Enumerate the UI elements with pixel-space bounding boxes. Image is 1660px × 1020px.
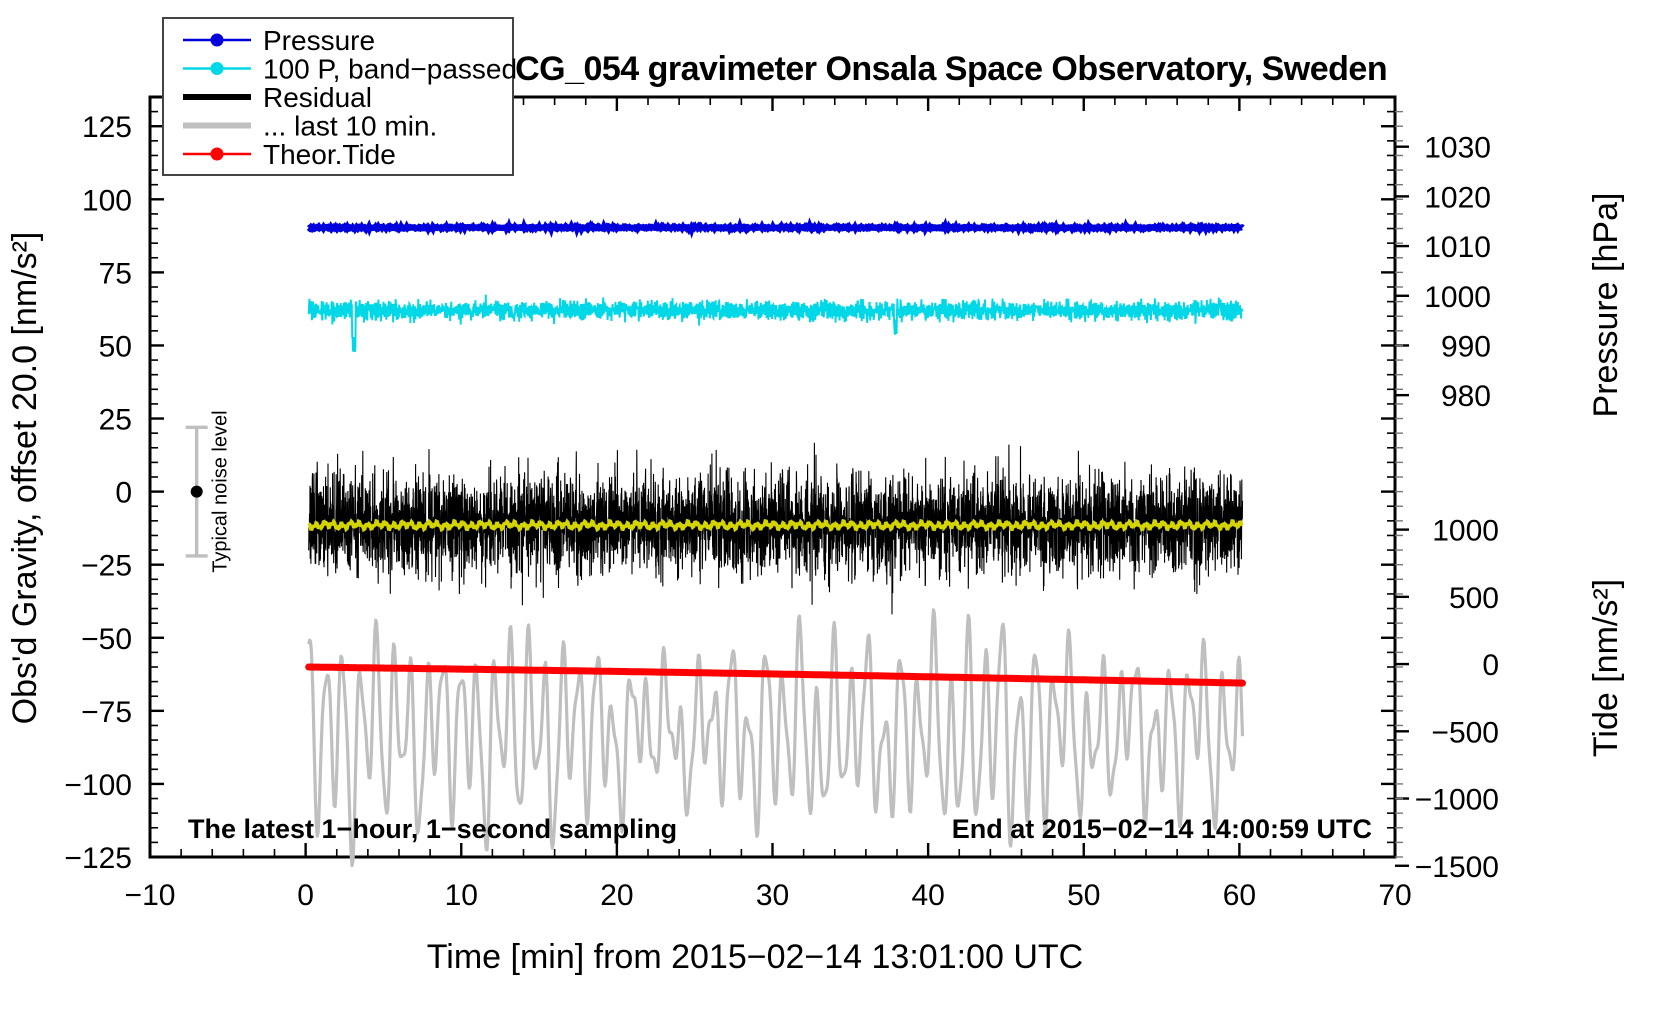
y-tick-label: −125 xyxy=(64,842,132,875)
legend-label: 100 P, band−passed xyxy=(263,54,517,85)
legend-label: Pressure xyxy=(263,25,375,56)
noise-level-label: Typical noise level xyxy=(210,410,232,572)
y-tick-label: −100 xyxy=(64,769,132,802)
legend-marker xyxy=(211,34,224,47)
noise-bar-center-dot xyxy=(191,486,203,498)
pressure-tick-label: 1030 xyxy=(1424,132,1491,165)
gravimeter-timeseries-chart: 1251007550250−25−50−75−100−125 −10010203… xyxy=(0,0,1660,1020)
x-tick-label: 0 xyxy=(297,879,314,912)
tide-tick-label: 0 xyxy=(1482,649,1499,682)
legend-label: Theor.Tide xyxy=(263,139,396,170)
series-pressure xyxy=(309,226,1243,229)
annotation-end-time: End at 2015−02−14 14:00:59 UTC xyxy=(952,814,1372,844)
y-tick-label: −75 xyxy=(81,696,132,729)
y-tick-label: 25 xyxy=(99,404,132,437)
pressure-tick-label: 990 xyxy=(1441,330,1491,363)
x-tick-label: 30 xyxy=(756,879,789,912)
chart-figure: 1251007550250−25−50−75−100−125 −10010203… xyxy=(0,0,1660,1020)
x-tick-label: −10 xyxy=(125,879,176,912)
chart-legend: Pressure100 P, band−passedResidual... la… xyxy=(163,18,517,175)
x-tick-label: 40 xyxy=(911,879,944,912)
pressure-axis-title: Pressure [hPa] xyxy=(1587,193,1625,418)
x-tick-label: 20 xyxy=(600,879,633,912)
pressure-tick-label: 980 xyxy=(1441,380,1491,413)
tide-tick-label: 500 xyxy=(1449,582,1499,615)
pressure-tick-label: 1000 xyxy=(1424,281,1491,314)
tide-tick-label: −1000 xyxy=(1415,784,1499,817)
y-tick-label: 75 xyxy=(99,257,132,290)
y-tick-label: −50 xyxy=(81,623,132,656)
chart-title: SCG_054 gravimeter Onsala Space Observat… xyxy=(493,50,1387,88)
y-tick-label: −25 xyxy=(81,550,132,583)
y-tick-label: 0 xyxy=(115,477,132,510)
x-tick-label: 10 xyxy=(445,879,478,912)
annotation-sampling: The latest 1−hour, 1−second sampling xyxy=(188,814,677,844)
x-tick-label: 70 xyxy=(1378,879,1411,912)
y-axis-title: Obs'd Gravity, offset 20.0 [nm/s²] xyxy=(6,232,44,725)
tide-tick-label: −1500 xyxy=(1415,851,1499,884)
tide-axis-title: Tide [nm/s²] xyxy=(1587,579,1625,757)
y-tick-label: 125 xyxy=(82,111,132,144)
tide-tick-label: 1000 xyxy=(1432,515,1499,548)
pressure-tick-label: 1010 xyxy=(1424,231,1491,264)
x-tick-label: 60 xyxy=(1223,879,1256,912)
legend-marker xyxy=(211,148,224,161)
legend-label: ... last 10 min. xyxy=(263,111,437,142)
x-axis-title: Time [min] from 2015−02−14 13:01:00 UTC xyxy=(427,938,1083,976)
tide-tick-label: −500 xyxy=(1431,716,1499,749)
y-tick-label: 100 xyxy=(82,184,132,217)
legend-label: Residual xyxy=(263,82,372,113)
pressure-tick-label: 1020 xyxy=(1424,181,1491,214)
x-tick-label: 50 xyxy=(1067,879,1100,912)
legend-marker xyxy=(211,62,224,75)
y-tick-label: 50 xyxy=(99,330,132,363)
